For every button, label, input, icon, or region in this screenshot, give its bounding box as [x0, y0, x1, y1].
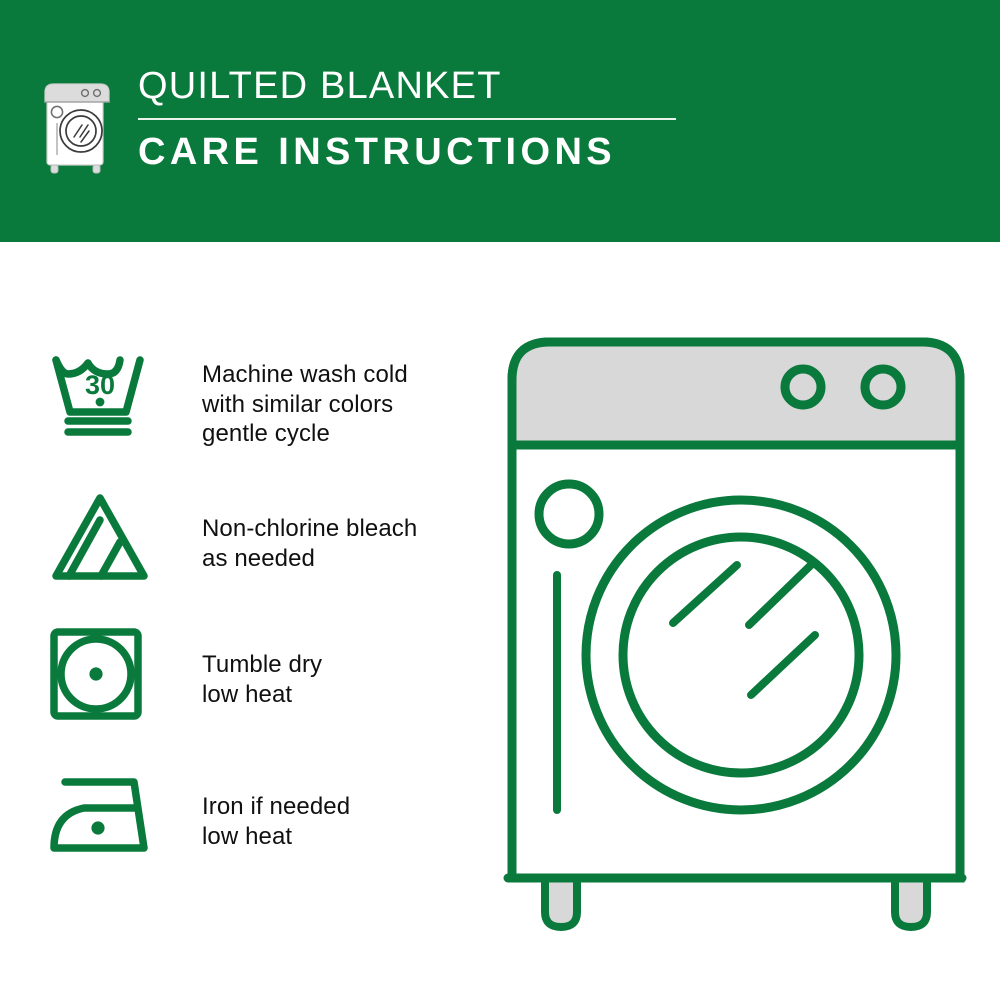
iron-icon	[48, 770, 152, 856]
label-line: Iron if needed	[202, 792, 350, 822]
iron-icon-wrapper	[48, 758, 160, 856]
tumble-dry-icon-wrapper	[48, 618, 160, 722]
label-line: with similar colors	[202, 390, 408, 420]
list-item-label: Machine wash cold with similar colors ge…	[202, 338, 408, 449]
page-title-secondary: CARE INSTRUCTIONS	[138, 130, 676, 174]
leg-right	[895, 878, 927, 927]
page-title-primary: QUILTED BLANKET	[138, 64, 676, 108]
header-title-group: QUILTED BLANKET CARE INSTRUCTIONS	[138, 62, 676, 174]
wash-temperature-value: 30	[85, 370, 115, 400]
label-line: gentle cycle	[202, 419, 408, 449]
title-divider	[138, 118, 676, 120]
bleach-triangle-icon-wrapper	[48, 478, 160, 586]
list-item: Iron if needed low heat	[48, 758, 478, 898]
leg-left	[545, 878, 577, 927]
label-line: low heat	[202, 680, 322, 710]
wash-tub-icon: 30	[48, 342, 152, 446]
care-instruction-list: 30 Machine wash cold with similar colors…	[48, 338, 478, 898]
wash-tub-icon-wrapper: 30	[48, 338, 160, 446]
label-line: as needed	[202, 544, 417, 574]
list-item: Non-chlorine bleach as needed	[48, 478, 478, 618]
header-content: QUILTED BLANKET CARE INSTRUCTIONS	[40, 62, 676, 174]
care-instructions-page: QUILTED BLANKET CARE INSTRUCTIONS 30	[0, 0, 1000, 1000]
list-item-label: Non-chlorine bleach as needed	[202, 478, 417, 573]
tumble-dry-icon	[48, 626, 144, 722]
list-item: 30 Machine wash cold with similar colors…	[48, 338, 478, 478]
top-control-panel	[512, 342, 960, 445]
label-line: Tumble dry	[202, 650, 322, 680]
list-item-label: Iron if needed low heat	[202, 758, 350, 851]
washing-machine-illustration	[485, 325, 985, 945]
label-line: Non-chlorine bleach	[202, 514, 417, 544]
label-line: Machine wash cold	[202, 360, 408, 390]
bleach-triangle-icon	[48, 490, 152, 586]
header-band: QUILTED BLANKET CARE INSTRUCTIONS	[0, 0, 1000, 242]
list-item-label: Tumble dry low heat	[202, 618, 322, 709]
washing-machine-icon	[40, 70, 114, 174]
label-line: low heat	[202, 822, 350, 852]
list-item: Tumble dry low heat	[48, 618, 478, 758]
